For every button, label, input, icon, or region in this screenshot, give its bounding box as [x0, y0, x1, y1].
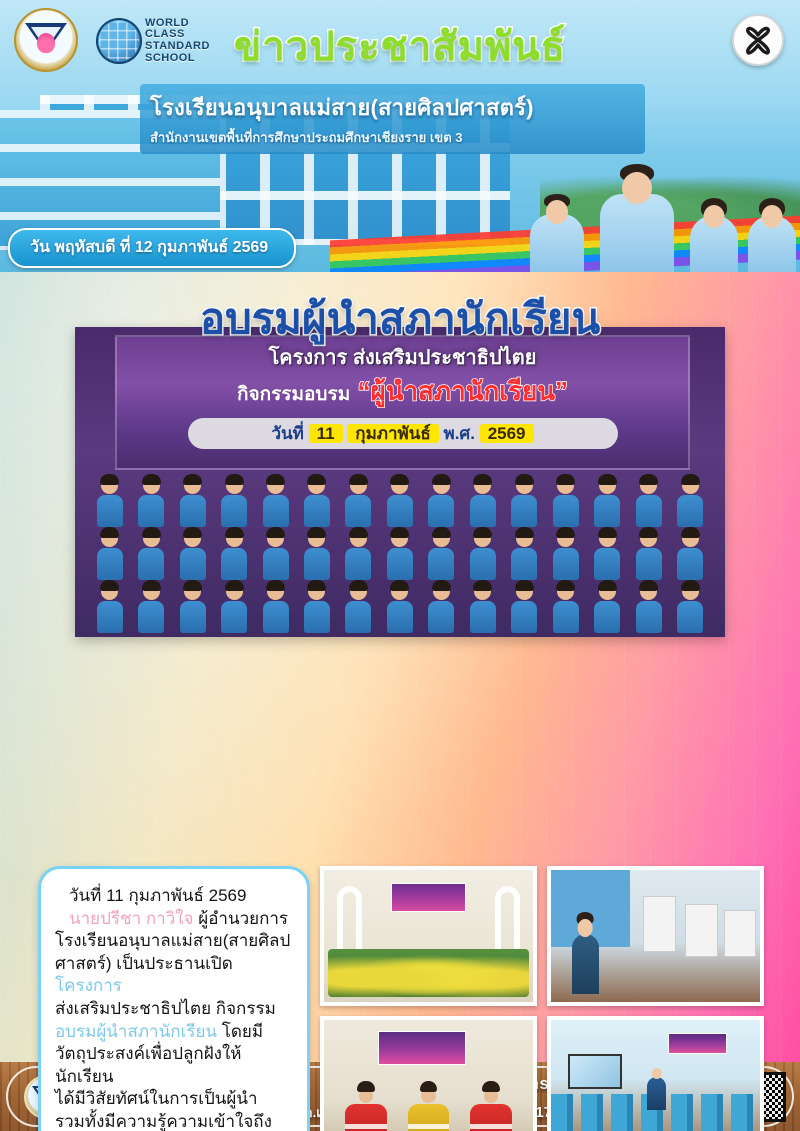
- banner-title-line: กิจกรรมอบรม “ผู้นำสภานักเรียน”: [117, 371, 688, 412]
- hero-row-front: [89, 580, 711, 633]
- article-objective-line-3: รวมทั้งมีความรู้ความเข้าใจถึงระบบ: [55, 1111, 293, 1131]
- hall-speaker-silhouette: [647, 1065, 666, 1110]
- hero-row-back: [89, 474, 711, 527]
- banner-quoted-title: “ผู้นำสภานักเรียน”: [357, 376, 568, 406]
- vest-student-1: [345, 1081, 387, 1131]
- news-poster: WORLD CLASS STANDARD SCHOOL ข่าวประชาสัม…: [0, 0, 800, 1131]
- photo-teacher-students-posters: [547, 866, 764, 1006]
- director-name: นายปรีชา กาวิใจ: [69, 909, 194, 928]
- article-objective-line-1: วัตถุประสงค์เพื่อปลูกฝังให้นักเรียน: [55, 1043, 293, 1088]
- header-person-director: [600, 164, 674, 272]
- article-school-line-1: โรงเรียนอนุบาลแม่สาย(สายศิลป: [55, 930, 293, 953]
- article-project-line-3: อบรมผู้นำสภานักเรียน โดยมี: [55, 1021, 293, 1044]
- photo-students-vests-stage: [320, 1016, 537, 1131]
- header-person-3: [690, 198, 738, 272]
- project-highlight-3: อบรมผู้นำสภานักเรียน: [55, 1022, 217, 1041]
- banner-date-day: 11: [309, 424, 343, 443]
- article-date-line: วันที่ 11 กุมภาพันธ์ 2569: [55, 885, 293, 908]
- banner-activity-label: กิจกรรมอบรม: [237, 384, 350, 405]
- date-badge: วัน พฤหัสบดี ที่ 12 กุมภาพันธ์ 2569: [8, 228, 296, 268]
- photo-grid: [320, 866, 764, 1131]
- project-highlight-1: โครงการ: [55, 976, 122, 995]
- article-director-line: นายปรีชา กาวิใจ ผู้อำนวยการ: [55, 908, 293, 931]
- school-office: สำนักงานเขตพื้นที่การศึกษาประถมศึกษาเชีย…: [150, 127, 635, 148]
- event-backdrop-banner: โครงการ ส่งเสริมประชาธิปไตย กิจกรรมอบรม …: [115, 335, 690, 470]
- hero-student-rows: [75, 472, 725, 637]
- header-person-4: [748, 198, 796, 272]
- director-role: ผู้อำนวยการ: [194, 909, 289, 928]
- banner-date-strip: วันที่ 11 กุมภาพันธ์ พ.ศ. 2569: [188, 418, 618, 449]
- hero-row-middle: [89, 527, 711, 580]
- article-after-project: โดยมี: [217, 1022, 263, 1041]
- poster-header: WORLD CLASS STANDARD SCHOOL ข่าวประชาสัม…: [0, 0, 800, 272]
- news-title: ข่าวประชาสัมพันธ์: [0, 14, 800, 78]
- banner-date-month: กุมภาพันธ์: [347, 424, 438, 443]
- photo-stage-decoration: [320, 866, 537, 1006]
- article-school-line-2: ศาสตร์) เป็นประธานเปิด โครงการ: [55, 953, 293, 998]
- poster-body: อบรมผู้นำสภานักเรียน โครงการ ส่งเสริมประ…: [0, 272, 800, 1062]
- banner-date-prefix: วันที่: [271, 424, 303, 443]
- black-mourning-ribbon-icon: [732, 14, 784, 66]
- school-name-plate: โรงเรียนอนุบาลแม่สาย(สายศิลปศาสตร์) สำนั…: [140, 84, 645, 154]
- vest-student-3: [470, 1081, 512, 1131]
- article-text-panel: วันที่ 11 กุมภาพันธ์ 2569 นายปรีชา กาวิใ…: [38, 866, 310, 1131]
- banner-date-year: 2569: [480, 424, 534, 443]
- article-open-phrase: ศาสตร์) เป็นประธานเปิด: [55, 954, 233, 973]
- banner-date-era: พ.ศ.: [444, 424, 475, 443]
- school-name: โรงเรียนอนุบาลแม่สาย(สายศิลปศาสตร์): [150, 90, 635, 125]
- article-objective-line-2: ได้มีวิสัยทัศน์ในการเป็นผู้นำ: [55, 1088, 293, 1111]
- page-title: อบรมผู้นำสภานักเรียน: [0, 286, 800, 352]
- photo-hall-audience: [547, 1016, 764, 1131]
- project-highlight-2: ส่งเสริมประชาธิปไตย กิจกรรม: [55, 998, 293, 1021]
- hero-group-photo: โครงการ ส่งเสริมประชาธิปไตย กิจกรรมอบรม …: [75, 327, 725, 637]
- vest-student-2: [408, 1081, 450, 1131]
- header-person-1: [530, 194, 584, 272]
- speaker-silhouette: [572, 912, 599, 994]
